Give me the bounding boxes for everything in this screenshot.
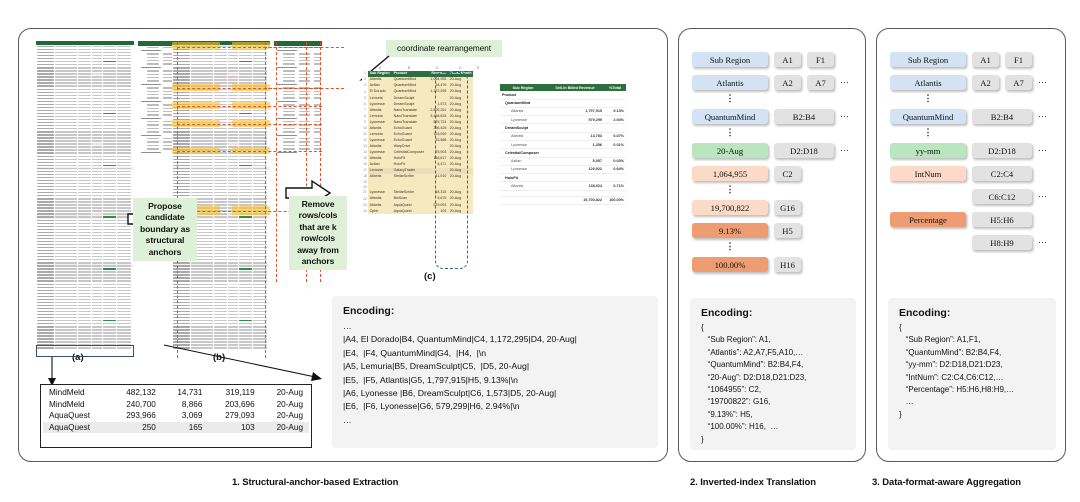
vertical-ellipsis: ⋮: [692, 244, 768, 249]
sheet-cell: [37, 204, 54, 205]
sheet-cell: [214, 76, 227, 77]
sheet-cell: [55, 143, 77, 144]
cell-reference-chip[interactable]: H5: [774, 223, 801, 238]
sheet-cell: [117, 174, 131, 175]
sheet-cell: [103, 259, 116, 260]
sheet-cell: [214, 323, 227, 324]
sheet-cell: [37, 159, 54, 160]
sheet-cell: [239, 98, 252, 99]
ellipsis-indicator: ⋯: [1038, 111, 1048, 122]
sheet-cell: [214, 58, 227, 59]
sheet-cell: [239, 159, 252, 160]
index-key-chip[interactable]: Percentage: [890, 212, 966, 227]
pivot-cell: [283, 131, 295, 132]
sheet-cell: [37, 320, 54, 321]
sheet-cell: [103, 317, 116, 318]
sheet-cell: [92, 326, 102, 327]
sheet-cell: [228, 216, 238, 217]
sheet-cell: [37, 198, 54, 199]
sheet-cell: [239, 329, 252, 330]
sheet-cell: [103, 262, 116, 263]
cell-reference-chip[interactable]: D2:D18: [972, 143, 1032, 158]
sheet-cell: [37, 82, 54, 83]
sheet-cell: [37, 64, 54, 65]
sheet-cell: [228, 125, 238, 126]
figure-root: Propose candidate boundary as structural…: [0, 0, 1080, 502]
sheet-cell: [191, 341, 213, 342]
sheet-cell: [117, 341, 131, 342]
table-cell-c3: 319,119: [208, 387, 260, 399]
index-key-chip[interactable]: Atlantis: [890, 75, 966, 90]
encoding-box-2: Encoding: { “Sub Region”: A1, “Atlantis”…: [690, 298, 856, 450]
sheet-cell: [117, 52, 131, 53]
sheet-cell: [239, 177, 252, 178]
sheet-cell: [214, 244, 227, 245]
sheet-cell: [37, 70, 54, 71]
pivot-cell: [283, 141, 295, 142]
sheet-cell: [103, 95, 116, 96]
sheet-cell: [78, 250, 91, 251]
pivot-label-cell: Atlantis: [500, 132, 546, 140]
sheet-cell: [239, 116, 252, 117]
sheet-cell: [92, 290, 102, 291]
sheet-cell: [78, 156, 91, 157]
sheet-cell: [92, 311, 102, 312]
sheet-cell: [92, 235, 102, 236]
sheet-cell: [55, 46, 77, 47]
sheet-cell: [228, 113, 238, 114]
pivot-percent-cell: 100.00%: [604, 196, 626, 204]
index-key-chip[interactable]: 20-Aug: [692, 143, 768, 158]
table-cell-c2: 165: [162, 422, 209, 434]
sheet-cell: [228, 204, 238, 205]
sheet-cell: [92, 259, 102, 260]
sheet-cell: [239, 311, 252, 312]
pivot-row: Atlantis138,9240.71%: [500, 182, 626, 190]
sheet-cell: [117, 189, 131, 190]
sheet-cell: [191, 113, 213, 114]
pivot-cell: [283, 128, 295, 129]
sheet-cell: [173, 265, 190, 266]
table-row: MindMeld240,7008,866203,69620-Aug: [43, 399, 309, 411]
sheet-cell: [37, 232, 54, 233]
cell-reference-chip[interactable]: A7: [807, 75, 834, 90]
sheet-cell: [228, 259, 238, 260]
sheet-cell: [92, 204, 102, 205]
sheet-cell: [103, 116, 116, 117]
sheet-cell: [173, 162, 190, 163]
sheet-cell: [239, 64, 252, 65]
sheet-cell: [214, 235, 227, 236]
sheet-cell: [228, 238, 238, 239]
sheet-cell: [92, 253, 102, 254]
sheet-cell: [173, 156, 190, 157]
index-key-chip[interactable]: [890, 194, 966, 199]
cell-reference-chip[interactable]: H8:H9: [972, 235, 1032, 250]
sheet-cell: [92, 165, 102, 166]
sheet-cell: [239, 198, 252, 199]
sheet-cell: [55, 119, 77, 120]
sheet-cell: [228, 226, 238, 227]
sheet-cell: [214, 250, 227, 251]
sheet-cell: [214, 247, 227, 248]
pivot-label-cell: Lyonesse: [500, 165, 546, 173]
sheet-cell: [103, 265, 116, 266]
sheet-cell: [117, 152, 131, 153]
ellipsis-indicator: ⋯: [840, 77, 850, 88]
cell-reference-chip[interactable]: A2: [774, 75, 801, 90]
cell-reference-chip[interactable]: B2:B4: [774, 109, 834, 124]
sheet-cell: [55, 52, 77, 53]
sheet-cell: [173, 317, 190, 318]
index-key-chip[interactable]: 1,064,955: [692, 166, 768, 181]
sheet-cell: [103, 284, 116, 285]
sheet-cell: [55, 85, 77, 86]
sheet-cell: [173, 189, 190, 190]
sheet-cell: [37, 201, 54, 202]
sheet-cell: [228, 271, 238, 272]
sheet-cell: [103, 229, 116, 230]
cell-reference-chip[interactable]: A1: [774, 52, 801, 67]
sheet-cell: [214, 329, 227, 330]
sheet-cell: [117, 159, 131, 160]
sheet-cell: [92, 95, 102, 96]
sheet-cell: [228, 207, 238, 208]
sheet-cell: [92, 195, 102, 196]
encoding-line: |E5, |F5, Atlantis|G5, 1,797,915|H5, 9.1…: [343, 374, 647, 387]
sheet-cell: [117, 64, 131, 65]
encoding-line: {: [899, 322, 1045, 334]
sheet-cell: [191, 177, 213, 178]
sheet-cell: [239, 168, 252, 169]
sheet-cell: [214, 332, 227, 333]
sheet-cell: [239, 85, 252, 86]
sheet-cell: [103, 192, 116, 193]
sheet-cell: [191, 335, 213, 336]
sheet-cell: [214, 177, 227, 178]
sheet-cell: [103, 210, 116, 211]
cell-reference-chip[interactable]: H5:H6: [972, 212, 1032, 227]
pivot-cell: [283, 63, 295, 64]
sheet-cell: [55, 213, 77, 214]
sheet-cell: [103, 110, 116, 111]
cell-reference-chip[interactable]: A2: [972, 75, 999, 90]
cell-reference-chip[interactable]: F1: [807, 52, 834, 67]
sheet-cell: [55, 137, 77, 138]
sheet-cell: [55, 308, 77, 309]
sheet-cell: [92, 189, 102, 190]
encoding-line: “QuantumMind”: B2:B4,F4,: [701, 359, 845, 371]
sheet-cell: [117, 137, 131, 138]
sheet-cell: [214, 113, 227, 114]
sheet-cell: [191, 274, 213, 275]
sheet-cell: [92, 280, 102, 281]
sheet-cell: [173, 52, 190, 53]
note-coordinate-rearrangement: coordinate rearrangement: [386, 40, 502, 57]
sheet-cell: [103, 271, 116, 272]
sheet-cell: [103, 79, 116, 80]
sheet-cell: [173, 128, 190, 129]
sheet-cell: [214, 116, 227, 117]
sheet-cell: [78, 125, 91, 126]
sheet-cell: [117, 122, 131, 123]
sheet-cell: [55, 293, 77, 294]
sheet-cell: [92, 140, 102, 141]
sheet-cell: [239, 73, 252, 74]
pivot-table-body: Sub RegionSell-In Billed Revenue%TotalPr…: [500, 84, 626, 205]
sheet-cell: [103, 70, 116, 71]
sheet-cell: [173, 95, 190, 96]
sheet-cell: [117, 305, 131, 306]
sheet-cell: [37, 314, 54, 315]
sheet-cell: [173, 159, 190, 160]
sheet-cell: [214, 216, 227, 217]
index-key-chip[interactable]: Atlantis: [692, 75, 768, 90]
table-cell-c2: 3,069: [162, 410, 209, 422]
sheet-cell: [92, 143, 102, 144]
sheet-cell: [117, 299, 131, 300]
sheet-cell: [92, 274, 102, 275]
cell-reference-chip[interactable]: H16: [774, 257, 801, 272]
sheet-cell: [228, 143, 238, 144]
pivot-percent-cell: 0.01%: [604, 140, 626, 148]
sheet-cell: [239, 320, 252, 321]
index-key-chip[interactable]: 100.00%: [692, 257, 768, 272]
sheet-cell: [37, 207, 54, 208]
sheet-cell: [239, 259, 252, 260]
pivot-label-cell: Atlantis: [500, 182, 546, 190]
sheet-cell: [103, 198, 116, 199]
sheet-cell: [55, 329, 77, 330]
sheet-cell: [228, 250, 238, 251]
sheet-cell: [103, 277, 116, 278]
sheet-cell: [78, 287, 91, 288]
sheet-cell: [228, 67, 238, 68]
pivot-value-cell: 126,922: [546, 165, 604, 173]
cell-reference-chip[interactable]: A1: [972, 52, 999, 67]
sheet-cell: [214, 238, 227, 239]
sheet-cell: [55, 290, 77, 291]
sheet-cell: [214, 162, 227, 163]
sheet-cell: [117, 326, 131, 327]
sheet-cell: [228, 293, 238, 294]
sheet-cell: [55, 277, 77, 278]
sheet-cell: [191, 305, 213, 306]
sheet-cell: [173, 146, 190, 147]
sheet-cell: [191, 92, 213, 93]
sheet-cell: [117, 134, 131, 135]
pivot-cell: [277, 135, 297, 136]
pivot-label-cell: Aztlan: [500, 157, 546, 165]
pivot-cell: [299, 74, 309, 75]
sheet-cell: [55, 76, 77, 77]
index-key-chip[interactable]: QuantumMind: [890, 109, 966, 124]
cell-reference-chip[interactable]: G16: [774, 200, 801, 215]
sheet-cell: [191, 195, 213, 196]
pivot-cell: [283, 148, 295, 149]
sheet-cell: [228, 183, 238, 184]
sheet-cell: [173, 104, 190, 105]
sheet-cell: [214, 140, 227, 141]
index-key-chip[interactable]: [890, 240, 966, 245]
sheet-cell: [228, 119, 238, 120]
sheet-cell: [239, 296, 252, 297]
pivot-percent-cell: [604, 149, 626, 157]
sheet-cell: [228, 70, 238, 71]
sheet-cell: [191, 152, 213, 153]
index-key-chip[interactable]: Sub Region: [890, 52, 966, 67]
sheet-cell: [214, 128, 227, 129]
sheet-cell: [191, 302, 213, 303]
sheet-cell: [55, 104, 77, 105]
sheet-cell: [191, 131, 213, 132]
table-cell: CelestialComposer: [392, 149, 426, 155]
pivot-label-cell: QuantumMind: [500, 99, 546, 107]
sheet-cell: [214, 101, 227, 102]
sheet-cell: [214, 274, 227, 275]
sheet-cell: [78, 223, 91, 224]
sheet-cell: [55, 259, 77, 260]
sheet-cell: [214, 192, 227, 193]
index-key-chip[interactable]: IntNum: [890, 166, 966, 181]
sheet-cell: [214, 152, 227, 153]
sheet-cell: [78, 213, 91, 214]
cell-reference-chip[interactable]: F1: [1005, 52, 1032, 67]
sheet-cell: [37, 128, 54, 129]
pivot-row: Aztlan5,0570.03%: [500, 157, 626, 165]
sheet-cell: [214, 226, 227, 227]
sheet-cell: [78, 58, 91, 59]
index-key-chip[interactable]: 19,700,822: [692, 200, 768, 215]
index-key-chip[interactable]: QuantumMind: [692, 109, 768, 124]
sheet-cell: [173, 287, 190, 288]
sheet-cell: [228, 232, 238, 233]
sheet-cell: [191, 287, 213, 288]
sheet-cell: [117, 338, 131, 339]
column-letter-b: B: [392, 67, 426, 70]
sheet-cell: [117, 320, 131, 321]
sheet-cell: [117, 311, 131, 312]
sheet-cell: [37, 213, 54, 214]
pivot-cell: [147, 114, 159, 115]
sheet-cell: [117, 335, 131, 336]
sheet-cell: [92, 284, 102, 285]
cell-reference-chip[interactable]: D2:D18: [774, 143, 834, 158]
sheet-cell: [103, 180, 116, 181]
sheet-cell: [55, 223, 77, 224]
sheet-cell: [214, 174, 227, 175]
sheet-cell: [92, 116, 102, 117]
sheet-cell: [214, 220, 227, 221]
sheet-cell: [55, 287, 77, 288]
pivot-label-cell: Atlantis: [500, 107, 546, 115]
sheet-cell: [214, 213, 227, 214]
table-row: AquaQuest293,9663,069279,09320-Aug: [43, 410, 309, 422]
sheet-cell: [117, 156, 131, 157]
sheet-cell: [239, 341, 252, 342]
sheet-cell: [103, 293, 116, 294]
sheet-cell: [228, 82, 238, 83]
sheet-cell: [78, 332, 91, 333]
sheet-cell: [55, 284, 77, 285]
sheet-cell: [191, 180, 213, 181]
sheet-cell: [103, 128, 116, 129]
pivot-cell: [277, 67, 297, 68]
cell-reference-chip[interactable]: C6:C12: [972, 189, 1032, 204]
sheet-cell: [239, 268, 252, 269]
encoding-line: “yy-mm”: D2:D18,D21:D23,: [899, 359, 1045, 371]
sheet-cell: [78, 247, 91, 248]
sheet-cell: [117, 290, 131, 291]
sheet-cell: [191, 85, 213, 86]
sheet-cell: [37, 125, 54, 126]
sheet-cell: [92, 177, 102, 178]
sheet-cell: [103, 98, 116, 99]
sheet-cell: [173, 180, 190, 181]
sheet-cell: [78, 119, 91, 120]
sheet-cell: [239, 61, 252, 62]
sheet-cell: [214, 92, 227, 93]
sheet-cell: [214, 49, 227, 50]
pivot-value-cell: 19,700,822: [546, 196, 604, 204]
sheet-cell: [103, 287, 116, 288]
sheet-cell: [173, 165, 190, 166]
cell-reference-chip[interactable]: C2: [774, 166, 801, 181]
sheet-cell: [117, 165, 131, 166]
pivot-percent-cell: [604, 124, 626, 132]
sheet-cell: [92, 119, 102, 120]
sheet-cell: [78, 207, 91, 208]
pivot-cell: [299, 97, 309, 98]
index-key-chip[interactable]: yy-mm: [890, 143, 966, 158]
sheet-cell: [228, 58, 238, 59]
sheet-cell: [92, 67, 102, 68]
sheet-cell: [92, 226, 102, 227]
pivot-cell: [147, 131, 159, 132]
sheet-cell: [239, 290, 252, 291]
encoding-line: “20-Aug”: D2:D18,D21:D23,: [701, 372, 845, 384]
sheet-cell: [239, 201, 252, 202]
sheet-cell: [191, 143, 213, 144]
sheet-cell: [37, 311, 54, 312]
index-entry-row: QuantumMindB2:B4⋯: [890, 109, 1048, 124]
sheet-cell: [92, 137, 102, 138]
table-cell-c1: 250: [110, 422, 162, 434]
cell-reference-chip[interactable]: A7: [1005, 75, 1032, 90]
sheet-cell: [228, 110, 238, 111]
cell-reference-chip[interactable]: C2:C4: [972, 166, 1032, 181]
sheet-cell: [55, 113, 77, 114]
index-key-chip[interactable]: Sub Region: [692, 52, 768, 67]
sheet-cell: [37, 220, 54, 221]
sheet-cell: [78, 131, 91, 132]
sheet-cell: [103, 341, 116, 342]
sheet-cell: [214, 317, 227, 318]
pivot-header-row: Sub RegionSell-In Billed Revenue%Total: [500, 84, 626, 91]
sheet-cell: [55, 232, 77, 233]
table-cell-month: 20-Aug: [261, 387, 309, 399]
pivot-cell: [299, 57, 309, 58]
index-key-chip[interactable]: 9.13%: [692, 223, 768, 238]
sheet-cell: [92, 122, 102, 123]
cell-reference-chip[interactable]: B2:B4: [972, 109, 1032, 124]
sheet-cell: [37, 49, 54, 50]
sheet-cell: [191, 55, 213, 56]
sheet-cell: [92, 186, 102, 187]
sheet-cell: [37, 262, 54, 263]
index-entry-row: Sub RegionA1F1: [692, 52, 834, 67]
sheet-cell: [92, 192, 102, 193]
